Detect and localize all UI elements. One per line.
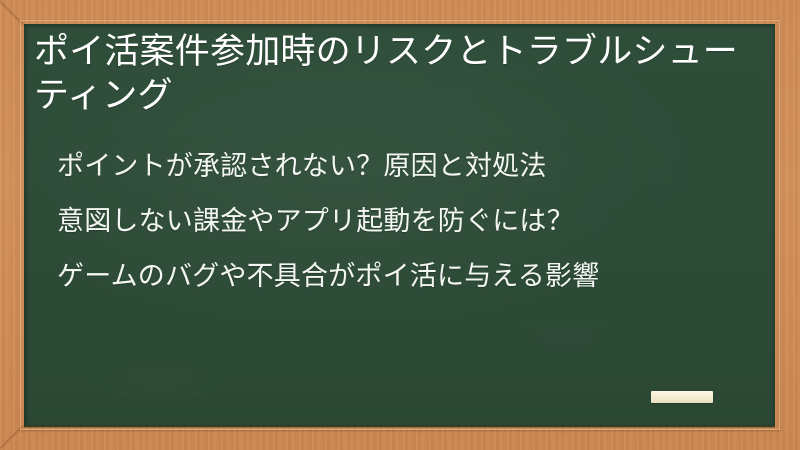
- chalk-stick-icon: [651, 391, 713, 403]
- chalkboard-surface: ポイ活案件参加時のリスクとトラブルシューティング ポイントが承認されない？原因と…: [24, 24, 775, 427]
- list-item: ゲームのバグや不具合がポイ活に与える影響: [57, 263, 757, 290]
- board-ledge-shadow: [24, 425, 775, 428]
- slide-title: ポイ活案件参加時のリスクとトラブルシューティング: [34, 30, 744, 118]
- topic-list: ポイントが承認されない？原因と対処法 意図しない課金やアプリ起動を防ぐには？ ゲ…: [57, 153, 757, 290]
- list-item: ポイントが承認されない？原因と対処法: [57, 153, 757, 180]
- list-item: 意図しない課金やアプリ起動を防ぐには？: [57, 208, 757, 235]
- chalkboard-slide: ポイ活案件参加時のリスクとトラブルシューティング ポイントが承認されない？原因と…: [0, 0, 800, 450]
